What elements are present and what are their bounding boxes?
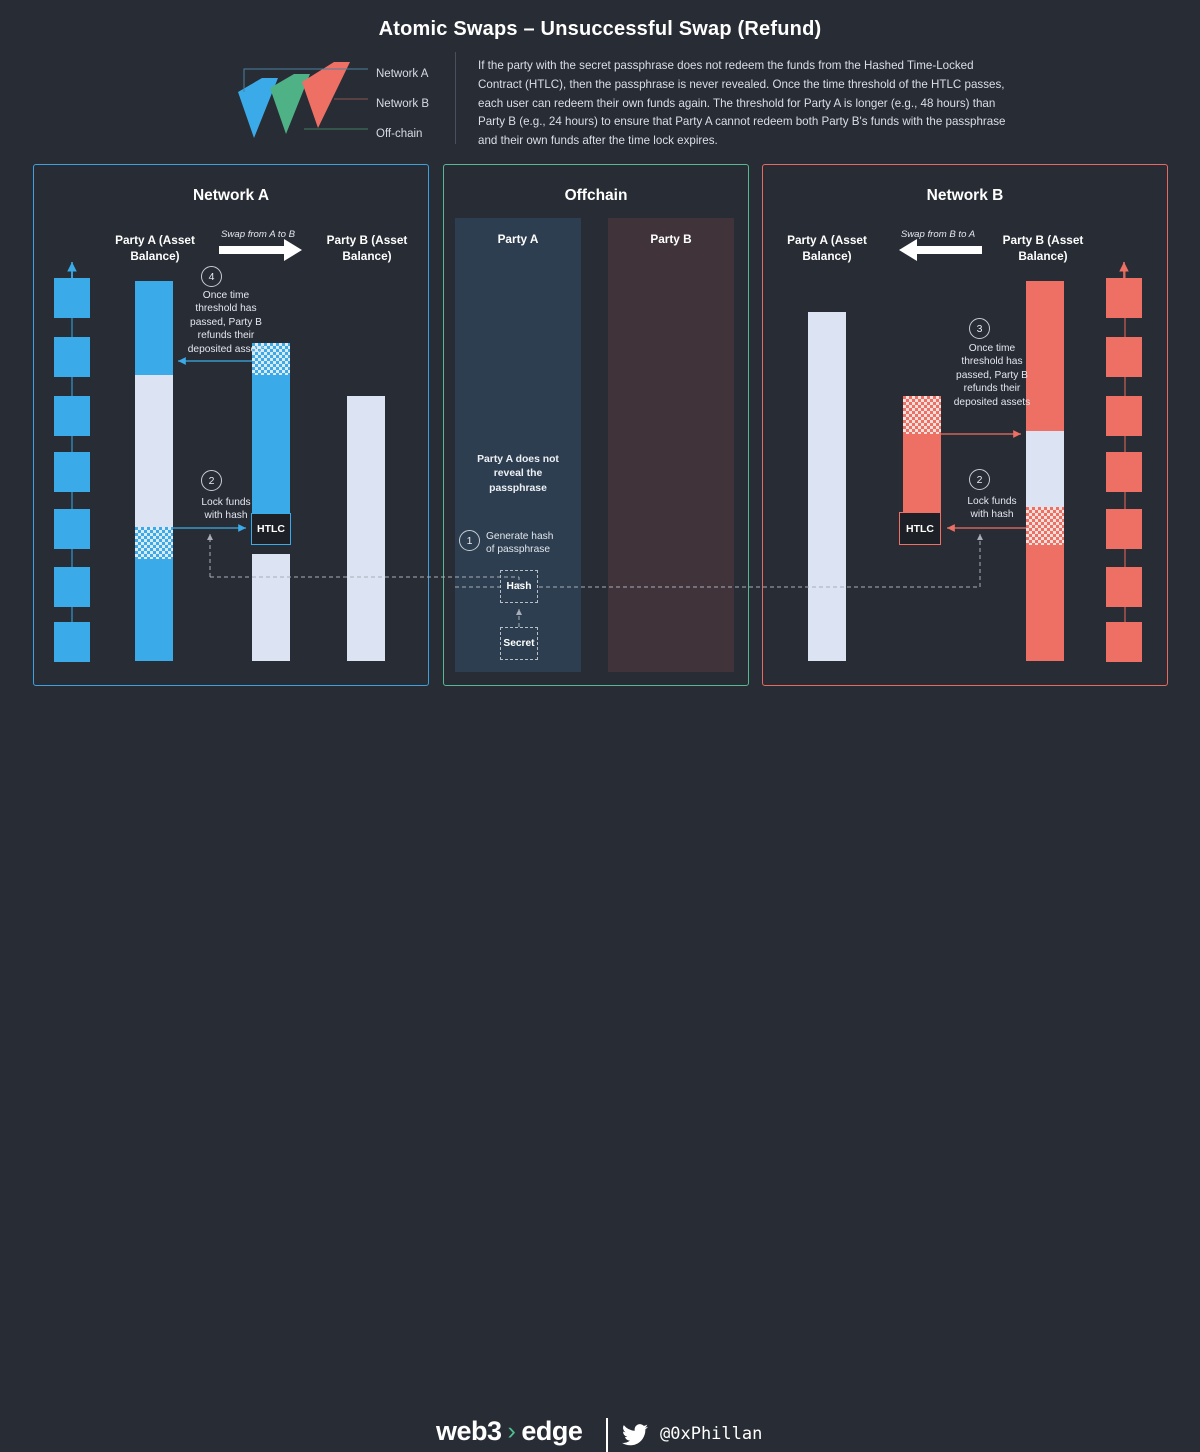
brand-logo: web3 › edge (436, 1416, 582, 1447)
page-title: Atomic Swaps – Unsuccessful Swap (Refund… (0, 18, 1200, 41)
network-a-chain-block (54, 622, 90, 662)
network-b-chain-block (1106, 452, 1142, 492)
offchain-note: Party A does not reveal the passphrase (462, 453, 574, 496)
panel-title-offchain: Offchain (444, 187, 748, 205)
network-a-party-a-header: Party A (Asset Balance) (100, 232, 210, 265)
twitter-icon (622, 1424, 648, 1451)
network-b-step-3-text: Once time threshold has passed, Party B … (936, 342, 1048, 409)
panel-title-network-a: Network A (34, 187, 428, 205)
brand-left: web3 (436, 1416, 502, 1447)
offchain-hash-box: Hash (500, 570, 538, 603)
network-a-step-2-marker: 2 (201, 470, 222, 491)
network-b-party-b-bar (1026, 281, 1064, 661)
network-a-chain-block (54, 396, 90, 436)
diagram-canvas: Atomic Swaps – Unsuccessful Swap (Refund… (0, 0, 1200, 778)
header-divider (455, 52, 456, 144)
network-a-chain-block (54, 509, 90, 549)
network-a-chain-block (54, 278, 90, 318)
network-a-step-4-text: Once time threshold has passed, Party B … (170, 289, 282, 356)
network-a-step-2-text: Lock funds with hash (170, 496, 282, 523)
network-b-chain-block (1106, 509, 1142, 549)
legend-label-network-b: Network B (376, 98, 429, 110)
network-b-chain-block (1106, 337, 1142, 377)
offchain-step-1-text: Generate hash of passphrase (486, 530, 578, 557)
network-b-party-b-header: Party B (Asset Balance) (988, 232, 1098, 265)
brand-chevron-icon: › (508, 1417, 516, 1446)
offchain-party-b-title: Party B (608, 232, 734, 246)
network-b-step-3-marker: 3 (969, 318, 990, 339)
network-b-party-a-header: Party A (Asset Balance) (772, 232, 882, 265)
legend-label-offchain: Off-chain (376, 128, 422, 140)
footer: web3 › edge @0xPhillan (0, 706, 1200, 758)
panel-title-network-b: Network B (763, 187, 1167, 205)
offchain-secret-box: Secret (500, 627, 538, 660)
offchain-party-a-title: Party A (455, 232, 581, 246)
network-a-party-b-header: Party B (Asset Balance) (312, 232, 422, 265)
twitter-handle: @0xPhillan (660, 1424, 762, 1444)
network-a-chain-block (54, 337, 90, 377)
brand-right: edge (521, 1416, 582, 1447)
offchain-step-1-marker: 1 (459, 530, 480, 551)
network-a-party-a-bar (135, 281, 173, 661)
legend: Network A Network B Off-chain (228, 52, 418, 144)
offchain-party-b-card: Party B (608, 218, 734, 672)
network-a-swap-label: Swap from A to B (198, 229, 318, 240)
network-b-chain-block (1106, 567, 1142, 607)
network-b-party-a-bar (808, 312, 846, 661)
footer-divider (606, 1418, 608, 1452)
network-b-chain-block (1106, 622, 1142, 662)
network-b-swap-label: Swap from B to A (878, 229, 998, 240)
network-a-chain-block (54, 452, 90, 492)
network-b-chain-block (1106, 396, 1142, 436)
header-description: If the party with the secret passphrase … (478, 57, 1006, 151)
network-a-step-4-marker: 4 (201, 266, 222, 287)
network-b-chain-block (1106, 278, 1142, 318)
network-b-htlc-box: HTLC (899, 512, 941, 545)
network-b-step-2-text: Lock funds with hash (936, 495, 1048, 522)
legend-label-network-a: Network A (376, 68, 428, 80)
network-b-step-2-marker: 2 (969, 469, 990, 490)
network-a-party-b-bar (347, 396, 385, 661)
network-a-chain-block (54, 567, 90, 607)
legend-shape-network-b (302, 62, 350, 128)
offchain-party-a-card: Party A (455, 218, 581, 672)
